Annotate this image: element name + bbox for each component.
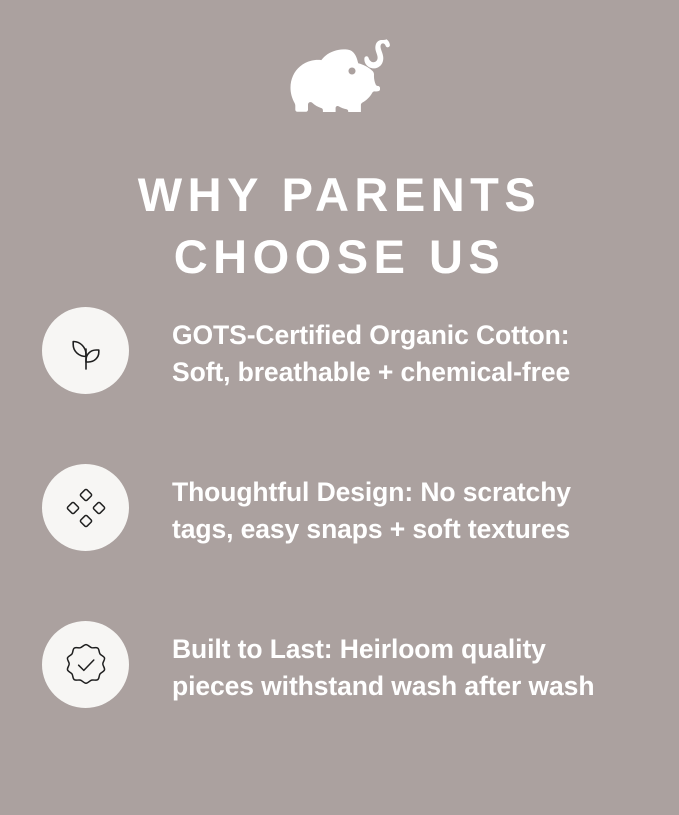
sprout-leaf-icon bbox=[64, 329, 108, 373]
feature-item-organic-cotton: GOTS-Certified Organic Cotton: Soft, bre… bbox=[0, 300, 679, 408]
feature-text-line-1: Thoughtful Design: No scratchy bbox=[172, 474, 651, 511]
four-diamonds-icon bbox=[64, 486, 108, 530]
feature-text: Built to Last: Heirloom quality pieces w… bbox=[172, 631, 651, 705]
feature-icon-badge bbox=[42, 621, 129, 708]
feature-text-line-1: GOTS-Certified Organic Cotton: bbox=[172, 317, 651, 354]
feature-icon-badge bbox=[42, 464, 129, 551]
feature-icon-badge bbox=[42, 307, 129, 394]
feature-text: Thoughtful Design: No scratchy tags, eas… bbox=[172, 474, 651, 548]
feature-text-line-2: tags, easy snaps + soft textures bbox=[172, 511, 651, 548]
feature-item-thoughtful-design: Thoughtful Design: No scratchy tags, eas… bbox=[0, 457, 679, 565]
feature-list: GOTS-Certified Organic Cotton: Soft, bre… bbox=[0, 300, 679, 722]
feature-text-line-1: Built to Last: Heirloom quality bbox=[172, 631, 651, 668]
feature-item-built-to-last: Built to Last: Heirloom quality pieces w… bbox=[0, 614, 679, 722]
elephant-icon bbox=[288, 38, 392, 112]
badge-check-icon bbox=[63, 642, 109, 688]
feature-text-line-2: pieces withstand wash after wash bbox=[172, 668, 651, 705]
feature-text: GOTS-Certified Organic Cotton: Soft, bre… bbox=[172, 317, 651, 391]
page-title-line-1: WHY PARENTS bbox=[0, 164, 679, 226]
why-parents-choose-us-panel: WHY PARENTS CHOOSE US GOTS-Certified Org… bbox=[0, 0, 679, 815]
feature-text-line-2: Soft, breathable + chemical-free bbox=[172, 354, 651, 391]
page-title: WHY PARENTS CHOOSE US bbox=[0, 164, 679, 288]
page-title-line-2: CHOOSE US bbox=[0, 226, 679, 288]
brand-logo bbox=[0, 34, 679, 116]
